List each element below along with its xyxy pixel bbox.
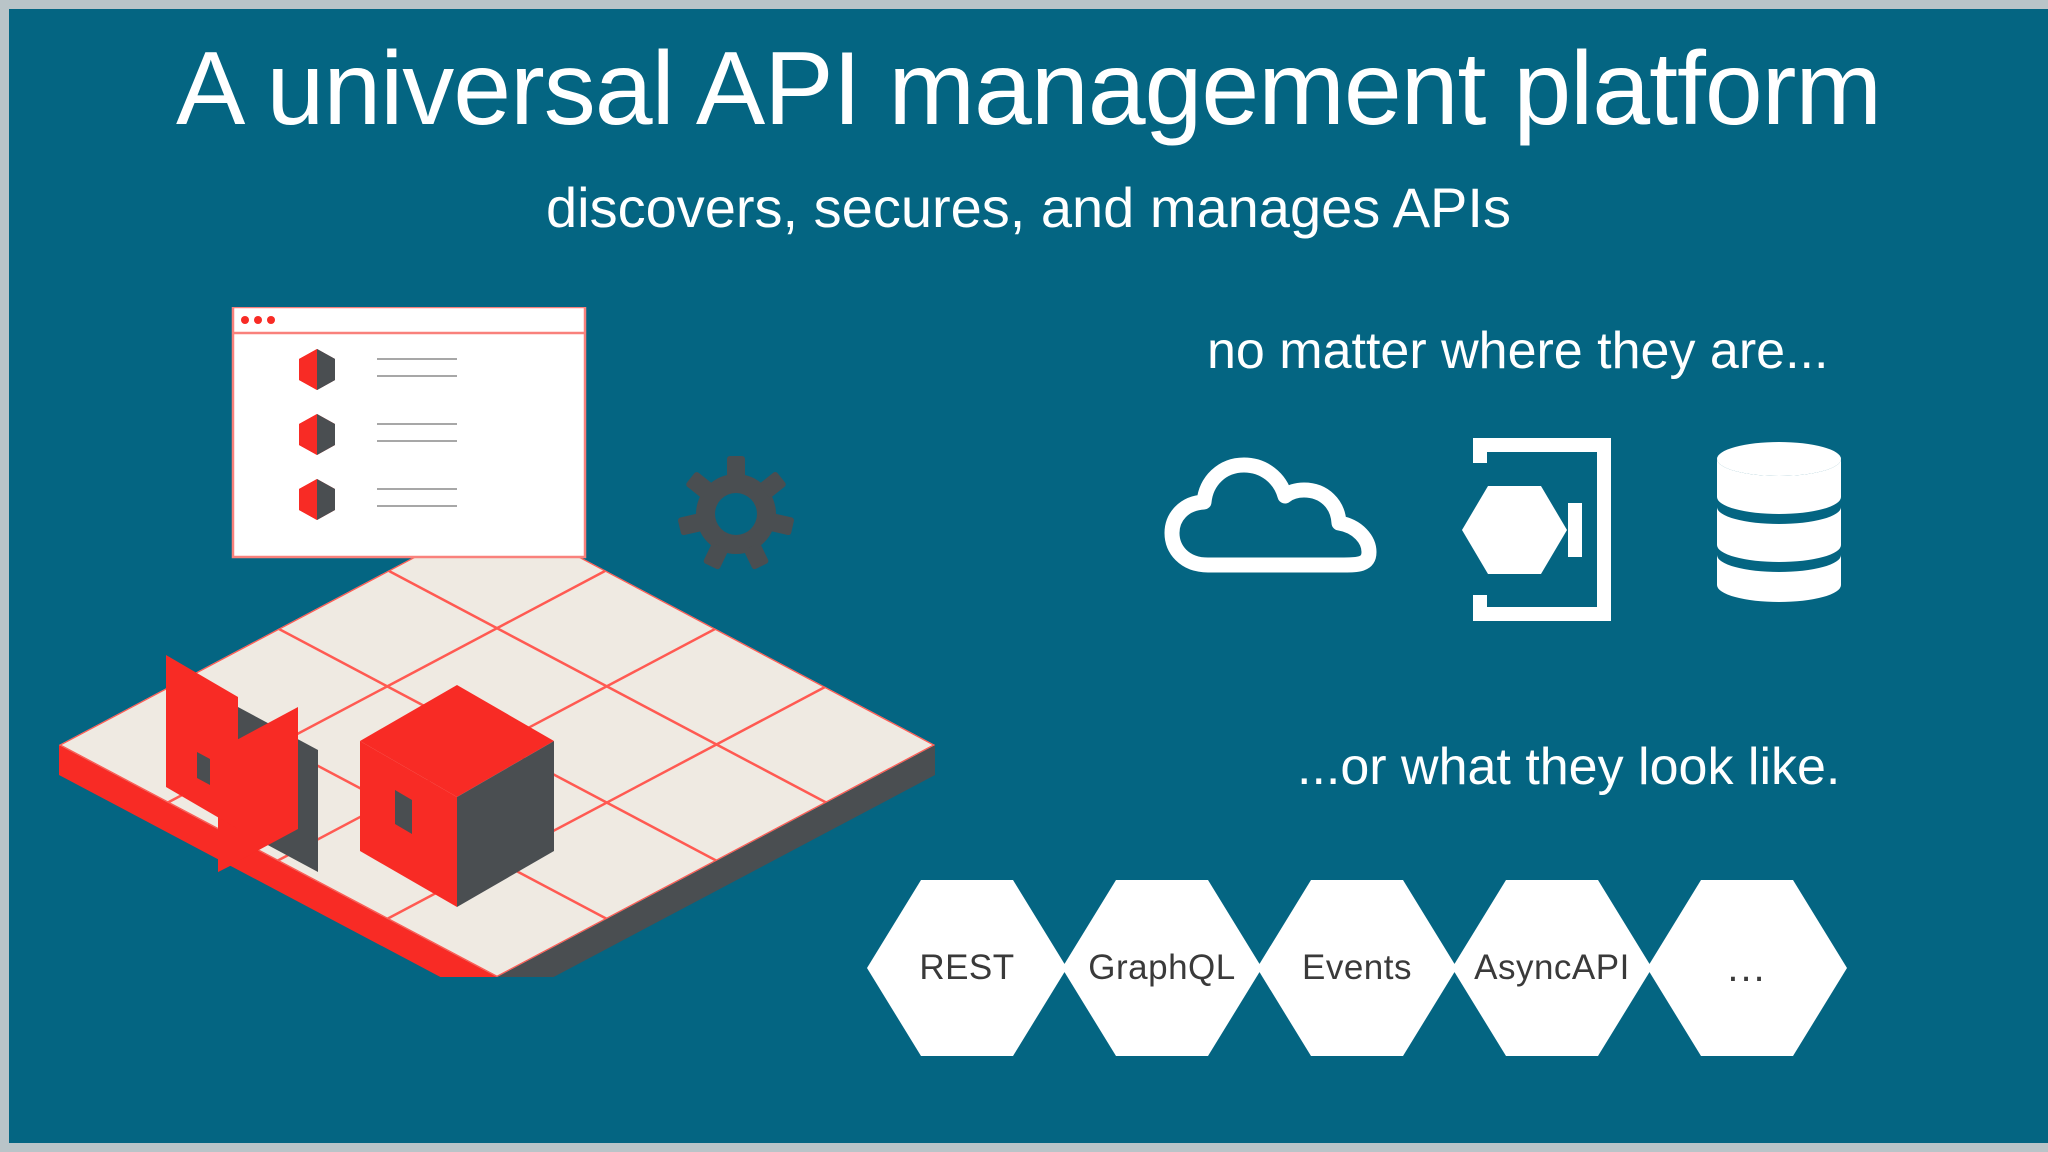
page-subtitle: discovers, secures, and manages APIs [9,175,2048,240]
api-style-label: REST [865,878,1069,1058]
browser-window-frame [233,307,585,557]
slide-canvas: A universal API management platform disc… [9,9,2048,1143]
api-style-hexagon-rest[interactable]: REST [865,878,1069,1058]
api-style-hexagon-row: REST GraphQL Events AsyncAPI [865,878,1840,1058]
api-style-hexagon-asyncapi[interactable]: AsyncAPI [1450,878,1654,1058]
page-title: A universal API management platform [9,35,2048,144]
deployment-icon-row [1164,437,1924,647]
api-style-label: AsyncAPI [1450,878,1654,1058]
api-style-label: Events [1255,878,1459,1058]
gear-icon [677,456,794,570]
api-style-hexagon-events[interactable]: Events [1255,878,1459,1058]
callout-where-they-are: no matter where they are... [1207,321,1828,381]
isometric-illustration-svg [57,307,997,977]
api-style-label: GraphQL [1060,878,1264,1058]
container-icon [1444,437,1624,627]
isometric-illustration [57,307,997,977]
slide-root: A universal API management platform disc… [0,0,2048,1152]
api-style-hexagon-graphql[interactable]: GraphQL [1060,878,1264,1058]
browser-window [233,307,585,557]
callout-what-they-look-like: ...or what they look like. [1297,737,1840,797]
api-style-label: ... [1645,878,1849,1058]
cloud-icon [1164,437,1384,582]
browser-window-dots [241,316,275,324]
api-style-hexagon-more[interactable]: ... [1645,878,1849,1058]
database-icon [1704,437,1854,610]
